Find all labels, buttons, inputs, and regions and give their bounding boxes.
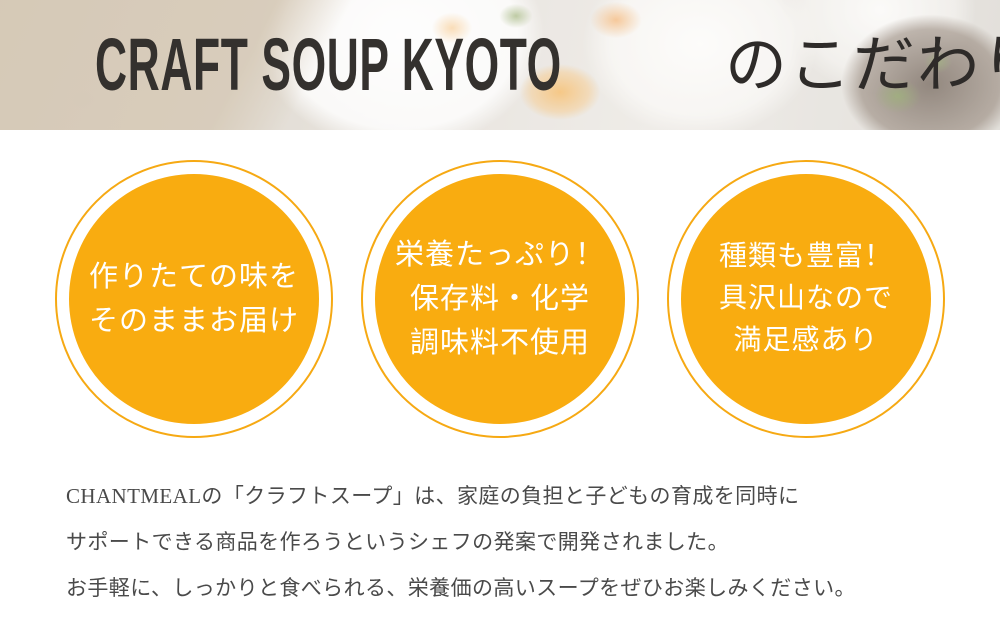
page-title-japanese: のこだわり — [725, 34, 1000, 96]
feature-badge-nutrition-line-1: 栄養たっぷり！ — [395, 233, 605, 277]
feature-badge-row: 作りたての味を そのままお届け 栄養たっぷり！ 保存料・化学 調味料不使用 種類… — [0, 160, 1000, 452]
feature-badge-variety: 種類も豊富！ 具沢山なので 満足感あり — [667, 160, 945, 438]
feature-badge-nutrition-line-2: 保存料・化学 — [410, 277, 590, 321]
feature-badge-freshness: 作りたての味を そのままお届け — [55, 160, 333, 438]
description-block: CHANTMEALの「クラフトスープ」は、家庭の負担と子どもの育成を同時に サポ… — [66, 478, 946, 606]
feature-badge-freshness-fill: 作りたての味を そのままお届け — [69, 174, 319, 424]
feature-badge-nutrition: 栄養たっぷり！ 保存料・化学 調味料不使用 — [361, 160, 639, 438]
feature-badge-nutrition-line-3: 調味料不使用 — [410, 321, 590, 365]
feature-badge-variety-line-2: 具沢山なので — [719, 278, 893, 320]
header-banner: CRAFT SOUP KYOTO のこだわり — [0, 0, 1000, 130]
feature-badge-variety-line-3: 満足感あり — [733, 320, 878, 362]
feature-badge-freshness-line-1: 作りたての味を — [89, 255, 299, 299]
description-line-1: CHANTMEALの「クラフトスープ」は、家庭の負担と子どもの育成を同時に — [66, 478, 946, 514]
page-title: CRAFT SOUP KYOTO のこだわり — [0, 0, 1000, 130]
feature-badge-nutrition-fill: 栄養たっぷり！ 保存料・化学 調味料不使用 — [375, 174, 625, 424]
promo-page: CRAFT SOUP KYOTO のこだわり 作りたての味を そのままお届け 栄… — [0, 0, 1000, 621]
feature-badge-variety-fill: 種類も豊富！ 具沢山なので 満足感あり — [681, 174, 931, 424]
description-line-3: お手軽に、しっかりと食べられる、栄養価の高いスープをぜひお楽しみください。 — [66, 570, 946, 606]
feature-badge-freshness-line-2: そのままお届け — [89, 299, 299, 343]
feature-badge-variety-line-1: 種類も豊富！ — [719, 236, 893, 278]
description-line-2: サポートできる商品を作ろうというシェフの発案で開発されました。 — [66, 524, 946, 560]
page-title-english: CRAFT SOUP KYOTO — [95, 28, 562, 102]
